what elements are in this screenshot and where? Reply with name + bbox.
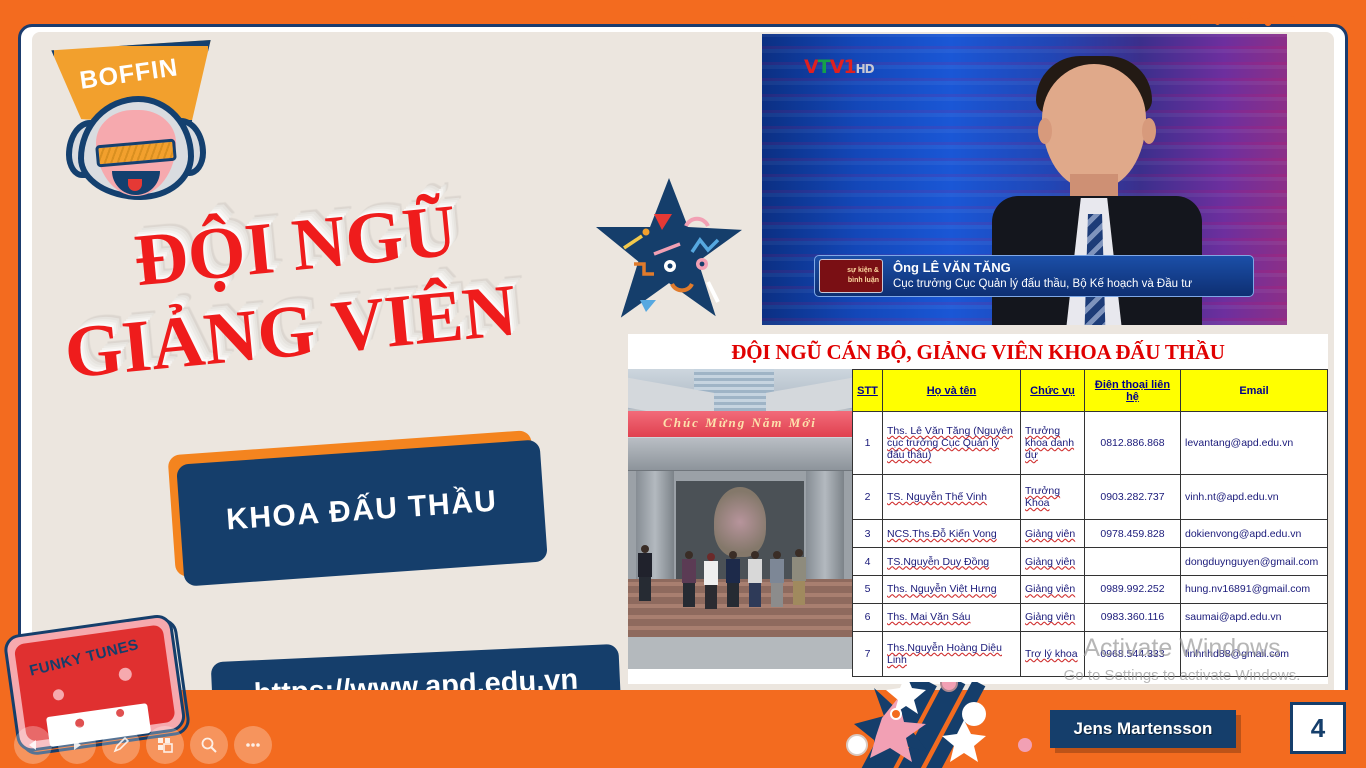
table-row: 2TS. Nguyễn Thế VinhTrưởng Khoa0903.282.… bbox=[853, 474, 1328, 519]
lower-third-caption: sự kiện & bình luận Ông LÊ VĂN TĂNG Cục … bbox=[814, 255, 1254, 297]
table-row: 3NCS.Ths.Đỗ Kiến VongGiảng viên0978.459.… bbox=[853, 520, 1328, 548]
cell-phone: 0903.282.737 bbox=[1085, 474, 1181, 519]
cell-email: vinh.nt@apd.edu.vn bbox=[1181, 474, 1328, 519]
photo-banner-text: Chúc Mừng Năm Mới bbox=[628, 415, 852, 431]
caption-name: Ông LÊ VĂN TĂNG bbox=[893, 260, 1192, 277]
slide-number-box: 4 bbox=[1290, 702, 1346, 754]
cell-email: hung.nv16891@gmail.com bbox=[1181, 575, 1328, 603]
photo-peach-blossom bbox=[714, 487, 766, 557]
page-title-line-2: GIẢNG VIÊN bbox=[61, 273, 519, 390]
cell-name: TS. Nguyễn Thế Vinh bbox=[883, 474, 1021, 519]
faculty-table: STT Họ và tên Chức vụ Điện thoại liên hệ… bbox=[852, 369, 1328, 677]
previous-slide-icon[interactable] bbox=[14, 726, 52, 764]
cell-name: Ths. Mai Văn Sáu bbox=[883, 603, 1021, 631]
presentation-slide: BOFFIN ĐỘI NGŨ GIẢNG VIÊN bbox=[0, 0, 1366, 768]
cell-phone: 0812.886.868 bbox=[1085, 412, 1181, 475]
cell-phone: 0983.360.116 bbox=[1085, 603, 1181, 631]
cell-stt: 3 bbox=[853, 520, 883, 548]
cell-phone: 0989.992.252 bbox=[1085, 575, 1181, 603]
paint-splatter bbox=[1215, 20, 1220, 25]
confetti-marks-icon bbox=[596, 178, 742, 322]
all-slides-grid-icon[interactable] bbox=[146, 726, 184, 764]
cell-stt: 4 bbox=[853, 548, 883, 576]
cell-stt: 2 bbox=[853, 474, 883, 519]
col-role: Chức vụ bbox=[1021, 370, 1085, 412]
zoom-magnifier-icon[interactable] bbox=[190, 726, 228, 764]
cell-phone bbox=[1085, 548, 1181, 576]
figure-head bbox=[1042, 64, 1146, 188]
cell-email: saumai@apd.edu.vn bbox=[1181, 603, 1328, 631]
cell-role: Giảng viên bbox=[1021, 548, 1085, 576]
confetti-star-decoration bbox=[596, 178, 742, 322]
photo-soffit bbox=[628, 437, 852, 471]
cell-role: Trợ lý khoa bbox=[1021, 631, 1085, 676]
table-row: 5Ths. Nguyễn Việt HưngGiảng viên0989.992… bbox=[853, 575, 1328, 603]
cell-phone: 0978.459.828 bbox=[1085, 520, 1181, 548]
cell-role: Trưởng Khoa bbox=[1021, 474, 1085, 519]
photo-plaza bbox=[628, 637, 852, 669]
figure-ear-right bbox=[1142, 118, 1156, 144]
caption-role: Cục trưởng Cục Quản lý đấu thầu, Bộ Kế h… bbox=[893, 277, 1192, 292]
cell-phone: 0968.544.333 bbox=[1085, 631, 1181, 676]
cell-email: dokienvong@apd.edu.vn bbox=[1181, 520, 1328, 548]
photo-column-right bbox=[806, 471, 844, 583]
boffin-logo: BOFFIN bbox=[44, 38, 220, 206]
figure-ear-left bbox=[1038, 118, 1052, 144]
cell-stt: 5 bbox=[853, 575, 883, 603]
cell-stt: 1 bbox=[853, 412, 883, 475]
paint-splatter bbox=[1288, 16, 1295, 22]
cell-role: Trưởng khoa danh dự bbox=[1021, 412, 1085, 475]
vtv1-hd-channel-logo-icon: VTV1HD bbox=[804, 56, 874, 78]
paint-splatter bbox=[1190, 14, 1198, 20]
photo-steps bbox=[628, 579, 852, 637]
slide-title: ĐỘI NGŨ GIẢNG VIÊN bbox=[56, 205, 596, 405]
photo-person bbox=[770, 551, 784, 607]
photo-person bbox=[704, 553, 718, 609]
col-email: Email bbox=[1181, 370, 1328, 412]
decorative-dot bbox=[890, 708, 902, 720]
photo-person bbox=[682, 551, 696, 607]
cell-role: Giảng viên bbox=[1021, 575, 1085, 603]
decorative-dot bbox=[1018, 738, 1032, 752]
cell-name: TS.Nguyễn Duy Đồng bbox=[883, 548, 1021, 576]
col-stt: STT bbox=[853, 370, 883, 412]
table-header-row: STT Họ và tên Chức vụ Điện thoại liên hệ… bbox=[853, 370, 1328, 412]
presentation-controls[interactable] bbox=[14, 726, 272, 764]
photo-person bbox=[748, 551, 762, 607]
table-row: 4TS.Nguyễn Duy ĐồngGiảng viêndongduynguy… bbox=[853, 548, 1328, 576]
paint-splatter bbox=[1265, 22, 1271, 26]
cell-name: Ths. Nguyễn Việt Hưng bbox=[883, 575, 1021, 603]
department-badge[interactable]: KHOA ĐẤU THẦU bbox=[176, 439, 548, 586]
cell-stt: 6 bbox=[853, 603, 883, 631]
photo-person bbox=[792, 549, 806, 605]
table-row: 6Ths. Mai Văn SáuGiảng viên0983.360.116s… bbox=[853, 603, 1328, 631]
program-badge: sự kiện & bình luận bbox=[819, 259, 883, 293]
table-row: 1Ths. Lê Văn Tăng (Nguyên cục trưởng Cục… bbox=[853, 412, 1328, 475]
photo-person bbox=[638, 545, 652, 601]
cell-email: levantang@apd.edu.vn bbox=[1181, 412, 1328, 475]
faculty-group-photo: Chúc Mừng Năm Mới bbox=[628, 369, 852, 669]
cell-name: Ths.Nguyễn Hoàng Diệu Linh bbox=[883, 631, 1021, 676]
col-phone: Điện thoại liên hệ bbox=[1085, 370, 1181, 412]
slide-number: 4 bbox=[1311, 713, 1325, 744]
paint-splatter bbox=[1240, 12, 1251, 19]
photo-person bbox=[726, 551, 740, 607]
cell-email: dongduynguyen@gmail.com bbox=[1181, 548, 1328, 576]
next-slide-icon[interactable] bbox=[58, 726, 96, 764]
cell-name: NCS.Ths.Đỗ Kiến Vong bbox=[883, 520, 1021, 548]
table-body: 1Ths. Lê Văn Tăng (Nguyên cục trưởng Cục… bbox=[853, 412, 1328, 677]
col-name: Họ và tên bbox=[883, 370, 1021, 412]
caption-text: Ông LÊ VĂN TĂNG Cục trưởng Cục Quản lý đ… bbox=[893, 260, 1192, 291]
cell-role: Giảng viên bbox=[1021, 520, 1085, 548]
cell-role: Giảng viên bbox=[1021, 603, 1085, 631]
cell-stt: 7 bbox=[853, 631, 883, 676]
faculty-table-card: ĐỘI NGŨ CÁN BỘ, GIẢNG VIÊN KHOA ĐẤU THẦU… bbox=[628, 334, 1328, 684]
decorative-dot bbox=[962, 702, 986, 726]
table-row: 7Ths.Nguyễn Hoàng Diệu LinhTrợ lý khoa09… bbox=[853, 631, 1328, 676]
cell-email: linhnhd88@gmail.com bbox=[1181, 631, 1328, 676]
card-title: ĐỘI NGŨ CÁN BỘ, GIẢNG VIÊN KHOA ĐẤU THẦU bbox=[628, 334, 1328, 369]
pen-annotation-icon[interactable] bbox=[102, 726, 140, 764]
more-options-icon[interactable] bbox=[234, 726, 272, 764]
decorative-dot bbox=[846, 734, 868, 756]
presenter-name-badge: Jens Martensson bbox=[1050, 710, 1236, 748]
presenter-name: Jens Martensson bbox=[1074, 719, 1213, 739]
tv-broadcast-image: VTV1HD sự kiện & bình luận Ông LÊ VĂN TĂ… bbox=[762, 34, 1287, 325]
cell-name: Ths. Lê Văn Tăng (Nguyên cục trưởng Cục … bbox=[883, 412, 1021, 475]
